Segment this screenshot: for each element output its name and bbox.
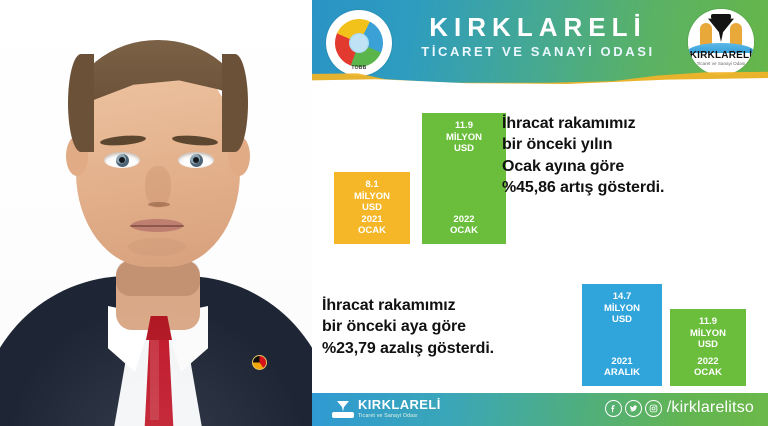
bar-year: 2022 (670, 356, 746, 368)
statement-line: bir önceki aya göre (322, 316, 582, 337)
bar-unit-line2: USD (670, 339, 746, 351)
kirklareli-tso-logo-icon: KIRKLARELİ Ticaret ve Sanayi Odası (688, 9, 754, 75)
bar-month: OCAK (670, 367, 746, 379)
statement-line: %45,86 artış gösterdi. (502, 177, 768, 198)
bar-year: 2021 (582, 356, 662, 368)
bar-label-group: 2022 OCAK (670, 356, 746, 379)
instagram-icon[interactable] (645, 400, 662, 417)
logo-arch-left (700, 23, 712, 45)
bar-unit-line1: MİLYON (422, 132, 506, 144)
chart-yearly-comparison: 8.1 MİLYON USD 2021 OCAK 11.9 MİLYON USD… (322, 104, 506, 244)
twitter-icon[interactable] (625, 400, 642, 417)
footer-bird-icon (337, 400, 349, 412)
tobb-logo-wheel (335, 19, 383, 67)
statement-line: İhracat rakamımız (502, 113, 768, 134)
bar-unit-line1: MİLYON (334, 191, 410, 203)
bar-value: 14.7 (582, 291, 662, 303)
infographic-root: TOBB KIRKLARELİ TİCARET VE SANAYİ ODASI … (0, 0, 768, 426)
statement-line: Ocak ayına göre (502, 156, 768, 177)
footer-band: KIRKLARELİ Ticaret ve Sanayi Odası /kirk… (312, 393, 768, 426)
bar-month: OCAK (334, 225, 410, 237)
page-subtitle: TİCARET VE SANAYİ ODASI (408, 44, 668, 59)
pupil-right (193, 157, 199, 163)
pupil-left (119, 157, 125, 163)
bar-2022-ocak: 11.9 MİLYON USD 2022 OCAK (670, 309, 746, 386)
lip-line (130, 225, 184, 227)
bar-2022-ocak: 11.9 MİLYON USD 2022 OCAK (422, 113, 506, 244)
tobb-logo-icon: TOBB (326, 10, 392, 76)
bar-value-group: 8.1 MİLYON USD (334, 179, 410, 214)
logo-arch-right (730, 23, 742, 45)
logo-subtitle: Ticaret ve Sanayi Odası (688, 61, 754, 66)
bar-unit-line2: USD (334, 202, 410, 214)
bar-month: ARALIK (582, 367, 662, 379)
hair-side-right (222, 54, 248, 152)
header-band: TOBB KIRKLARELİ TİCARET VE SANAYİ ODASI … (312, 0, 768, 88)
lapel-pin-icon (252, 355, 267, 370)
statement-monthly: İhracat rakamımız bir önceki aya göre %2… (322, 295, 582, 359)
footer-logo-subtitle: Ticaret ve Sanayi Odası (358, 413, 441, 419)
tobb-logo-caption: TOBB (326, 65, 392, 71)
bar-unit-line1: MİLYON (582, 303, 662, 315)
bar-label-group: 2022 OCAK (422, 214, 506, 237)
bar-value: 11.9 (422, 120, 506, 132)
bar-year: 2021 (334, 214, 410, 226)
bar-year: 2022 (422, 214, 506, 226)
bar-2021-ocak: 8.1 MİLYON USD 2021 OCAK (334, 172, 410, 244)
logo-title: KIRKLARELİ (688, 50, 754, 61)
bar-label-group: 2021 OCAK (334, 214, 410, 237)
hair-side-left (68, 54, 94, 152)
bar-unit-line1: MİLYON (670, 328, 746, 340)
header-titles: KIRKLARELİ TİCARET VE SANAYİ ODASI (408, 14, 668, 59)
bar-value-group: 14.7 MİLYON USD (582, 291, 662, 326)
footer-logo-base (332, 412, 354, 418)
bar-unit-line2: USD (582, 314, 662, 326)
social-links: /kirklarelitso (605, 399, 754, 417)
social-handle[interactable]: /kirklarelitso (667, 399, 754, 417)
bar-value: 8.1 (334, 179, 410, 191)
statement-yearly: İhracat rakamımız bir önceki yılın Ocak … (502, 113, 768, 199)
facebook-icon[interactable] (605, 400, 622, 417)
chin (128, 238, 186, 256)
tobb-logo-center (349, 33, 369, 53)
logo-cap (711, 14, 731, 19)
content-panel: TOBB KIRKLARELİ TİCARET VE SANAYİ ODASI … (312, 0, 768, 426)
bar-2021-aralik: 14.7 MİLYON USD 2021 ARALIK (582, 284, 662, 386)
portrait-photo (0, 0, 312, 426)
footer-logo-text-group: KIRKLARELİ Ticaret ve Sanayi Odası (358, 398, 441, 419)
footer-logo-mark-icon (332, 400, 354, 418)
page-title: KIRKLARELİ (408, 14, 668, 42)
bar-value-group: 11.9 MİLYON USD (422, 120, 506, 155)
statement-line: %23,79 azalış gösterdi. (322, 338, 582, 359)
bar-label-group: 2021 ARALIK (582, 356, 662, 379)
statement-line: İhracat rakamımız (322, 295, 582, 316)
footer-logo[interactable]: KIRKLARELİ Ticaret ve Sanayi Odası (332, 398, 441, 419)
chart-monthly-comparison: 14.7 MİLYON USD 2021 ARALIK 11.9 MİLYON … (580, 282, 756, 386)
bar-value: 11.9 (670, 316, 746, 328)
bar-value-group: 11.9 MİLYON USD (670, 316, 746, 351)
statement-line: bir önceki yılın (502, 134, 768, 155)
bar-unit-line2: USD (422, 143, 506, 155)
nostrils (148, 202, 170, 207)
footer-logo-title: KIRKLARELİ (358, 398, 441, 411)
bar-month: OCAK (422, 225, 506, 237)
